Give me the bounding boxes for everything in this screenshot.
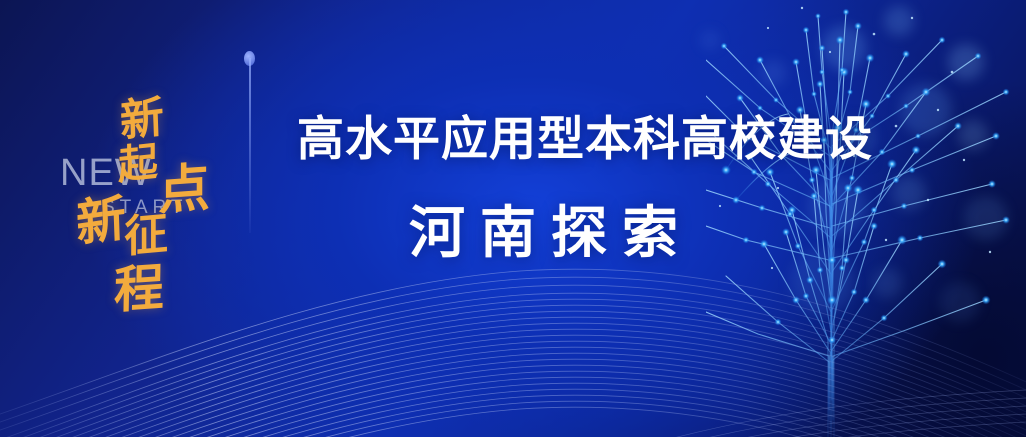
calligraphy-char-cheng: 程	[114, 262, 165, 316]
banner-title: 高水平应用型本科高校建设	[297, 114, 873, 163]
headline-block: 高水平应用型本科高校建设 河南探索	[297, 114, 873, 261]
promo-banner: NEW START 新 起 点 新 征 程 高水平应用型本科高校建设 河南探索	[0, 0, 1026, 437]
calligraphy-char-xin-2: 新	[75, 192, 126, 249]
calligraphy-emblem: NEW START 新 起 点 新 征 程	[60, 92, 260, 322]
banner-subtitle: 河南探索	[409, 205, 873, 261]
calligraphy-char-zheng: 征	[124, 212, 168, 260]
calligraphy-char-qi: 起	[118, 142, 158, 186]
